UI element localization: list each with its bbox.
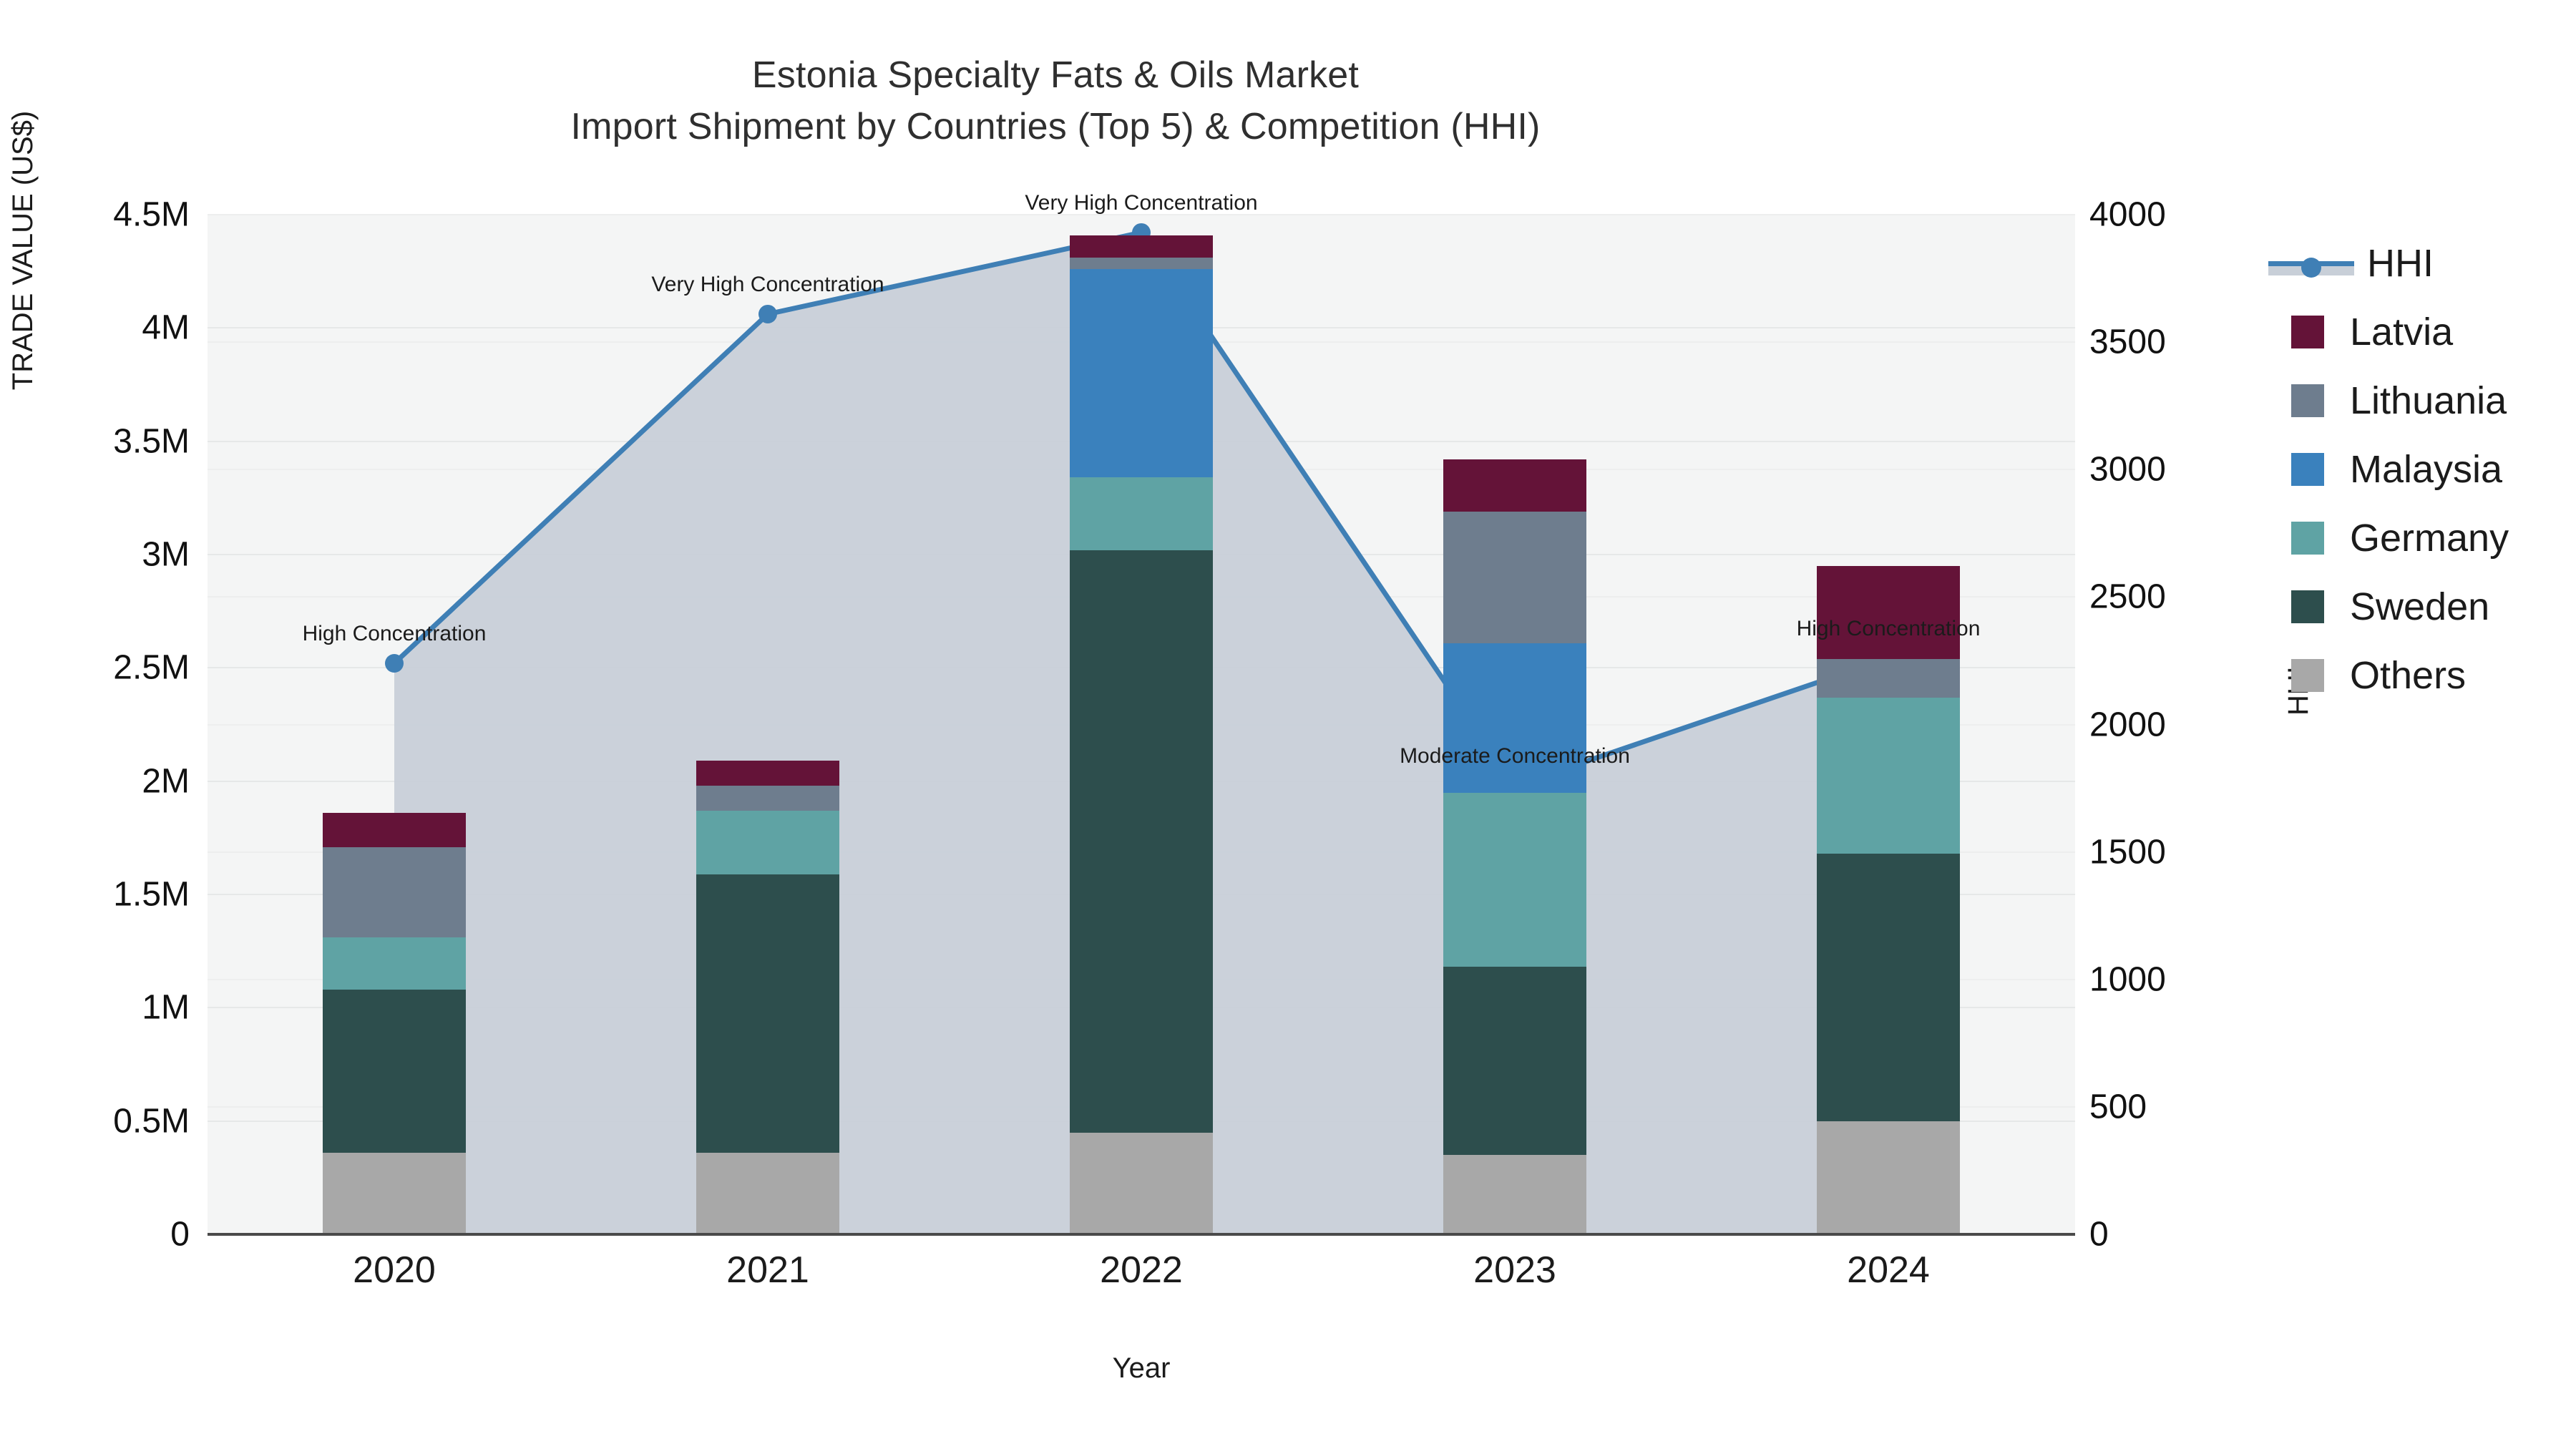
legend-swatch-icon bbox=[2291, 316, 2324, 348]
bar-segment-germany[interactable] bbox=[696, 811, 839, 874]
y-axis-right-tick: 1000 bbox=[2089, 960, 2166, 999]
bar-segment-germany[interactable] bbox=[1443, 793, 1586, 967]
y-axis-right-tick: 2000 bbox=[2089, 705, 2166, 744]
bar-stack[interactable] bbox=[1443, 215, 1586, 1234]
chart-subtitle: Import Shipment by Countries (Top 5) & C… bbox=[0, 102, 2111, 153]
chart-legend: HHILatviaLithuaniaMalaysiaGermanySwedenO… bbox=[2268, 229, 2509, 710]
y-axis-right-tick: 4000 bbox=[2089, 195, 2166, 235]
legend-swatch-icon bbox=[2291, 384, 2324, 417]
bar-stacks bbox=[208, 215, 2075, 1234]
bar-segment-sweden[interactable] bbox=[1443, 967, 1586, 1155]
bar-segment-latvia[interactable] bbox=[1817, 566, 1960, 659]
bar-segment-others[interactable] bbox=[323, 1153, 466, 1234]
legend-swatch-icon bbox=[2291, 590, 2324, 623]
legend-swatch-icon bbox=[2291, 659, 2324, 692]
legend-item-others[interactable]: Others bbox=[2268, 641, 2509, 710]
bar-segment-malaysia[interactable] bbox=[1443, 643, 1586, 793]
x-axis-tick-2021: 2021 bbox=[726, 1249, 809, 1292]
x-axis-tick-2020: 2020 bbox=[353, 1249, 436, 1292]
bar-segment-germany[interactable] bbox=[1070, 477, 1213, 550]
legend-item-sweden[interactable]: Sweden bbox=[2268, 572, 2509, 641]
legend-item-malaysia[interactable]: Malaysia bbox=[2268, 435, 2509, 504]
x-axis-tick-2024: 2024 bbox=[1847, 1249, 1930, 1292]
y-axis-right-tick: 3000 bbox=[2089, 450, 2166, 489]
bar-segment-lithuania[interactable] bbox=[1443, 512, 1586, 643]
bar-segment-latvia[interactable] bbox=[1070, 235, 1213, 258]
legend-item-lithuania[interactable]: Lithuania bbox=[2268, 366, 2509, 435]
y-axis-left-tick: 3.5M bbox=[4, 421, 190, 461]
bar-segment-sweden[interactable] bbox=[696, 874, 839, 1153]
y-axis-right-tick: 1500 bbox=[2089, 832, 2166, 872]
y-axis-right-tick: 500 bbox=[2089, 1087, 2147, 1126]
hhi-annotation: Very High Concentration bbox=[1025, 191, 1257, 215]
bar-segment-sweden[interactable] bbox=[1070, 550, 1213, 1133]
y-axis-left-tick: 1M bbox=[4, 988, 190, 1028]
legend-label: Others bbox=[2350, 653, 2466, 698]
x-axis-label: Year bbox=[208, 1352, 2075, 1385]
y-axis-right-tick: 3500 bbox=[2089, 323, 2166, 362]
y-axis-left-label: TRADE VALUE (US$) bbox=[7, 100, 39, 401]
legend-label: Malaysia bbox=[2350, 447, 2502, 492]
legend-item-latvia[interactable]: Latvia bbox=[2268, 298, 2509, 366]
legend-label: Latvia bbox=[2350, 310, 2453, 354]
hhi-annotation: Moderate Concentration bbox=[1400, 744, 1630, 769]
hhi-line-icon bbox=[2268, 247, 2354, 280]
bar-segment-sweden[interactable] bbox=[1817, 854, 1960, 1121]
y-axis-right-tick: 2500 bbox=[2089, 577, 2166, 617]
y-axis-left-tick: 0 bbox=[4, 1215, 190, 1254]
hhi-annotation: High Concentration bbox=[1797, 617, 1981, 641]
legend-swatch-icon bbox=[2291, 522, 2324, 555]
bar-segment-others[interactable] bbox=[1070, 1133, 1213, 1235]
bar-segment-lithuania[interactable] bbox=[1817, 659, 1960, 698]
x-axis-tick-2023: 2023 bbox=[1473, 1249, 1556, 1292]
y-axis-left-tick: 0.5M bbox=[4, 1101, 190, 1141]
bar-segment-latvia[interactable] bbox=[1443, 459, 1586, 512]
legend-label: Germany bbox=[2350, 516, 2509, 560]
bar-segment-others[interactable] bbox=[1817, 1121, 1960, 1234]
legend-item-hhi[interactable]: HHI bbox=[2268, 229, 2509, 298]
y-axis-left-tick: 2M bbox=[4, 761, 190, 801]
y-axis-right-tick: 0 bbox=[2089, 1215, 2109, 1254]
bar-segment-latvia[interactable] bbox=[696, 761, 839, 786]
bar-segment-germany[interactable] bbox=[1817, 698, 1960, 854]
bar-segment-germany[interactable] bbox=[323, 937, 466, 990]
chart-figure: Estonia Specialty Fats & Oils Market Imp… bbox=[0, 0, 2576, 1449]
y-axis-left-tick: 1.5M bbox=[4, 875, 190, 914]
bar-segment-lithuania[interactable] bbox=[1070, 258, 1213, 269]
bar-stack[interactable] bbox=[696, 215, 839, 1234]
y-axis-left-tick: 2.5M bbox=[4, 648, 190, 688]
page-title: Estonia Specialty Fats & Oils Market bbox=[0, 50, 2111, 102]
legend-label: Lithuania bbox=[2350, 379, 2507, 423]
bar-segment-latvia[interactable] bbox=[323, 813, 466, 847]
bar-stack[interactable] bbox=[1817, 215, 1960, 1234]
chart-title-block: Estonia Specialty Fats & Oils Market Imp… bbox=[0, 50, 2111, 153]
y-axis-left-tick: 3M bbox=[4, 535, 190, 575]
bar-segment-others[interactable] bbox=[1443, 1155, 1586, 1234]
bar-segment-sweden[interactable] bbox=[323, 990, 466, 1153]
hhi-annotation: Very High Concentration bbox=[651, 273, 884, 297]
bar-segment-lithuania[interactable] bbox=[696, 786, 839, 811]
bar-segment-lithuania[interactable] bbox=[323, 847, 466, 938]
bar-stack[interactable] bbox=[323, 215, 466, 1234]
legend-label: HHI bbox=[2367, 241, 2434, 286]
legend-label: Sweden bbox=[2350, 585, 2489, 629]
x-axis-tick-2022: 2022 bbox=[1100, 1249, 1183, 1292]
bar-stack[interactable] bbox=[1070, 215, 1213, 1234]
x-axis-line bbox=[208, 1233, 2075, 1236]
bar-segment-others[interactable] bbox=[696, 1153, 839, 1234]
plot-area bbox=[208, 215, 2075, 1234]
legend-swatch-icon bbox=[2291, 453, 2324, 486]
legend-item-germany[interactable]: Germany bbox=[2268, 504, 2509, 572]
hhi-annotation: High Concentration bbox=[303, 622, 487, 646]
bar-segment-malaysia[interactable] bbox=[1070, 269, 1213, 477]
